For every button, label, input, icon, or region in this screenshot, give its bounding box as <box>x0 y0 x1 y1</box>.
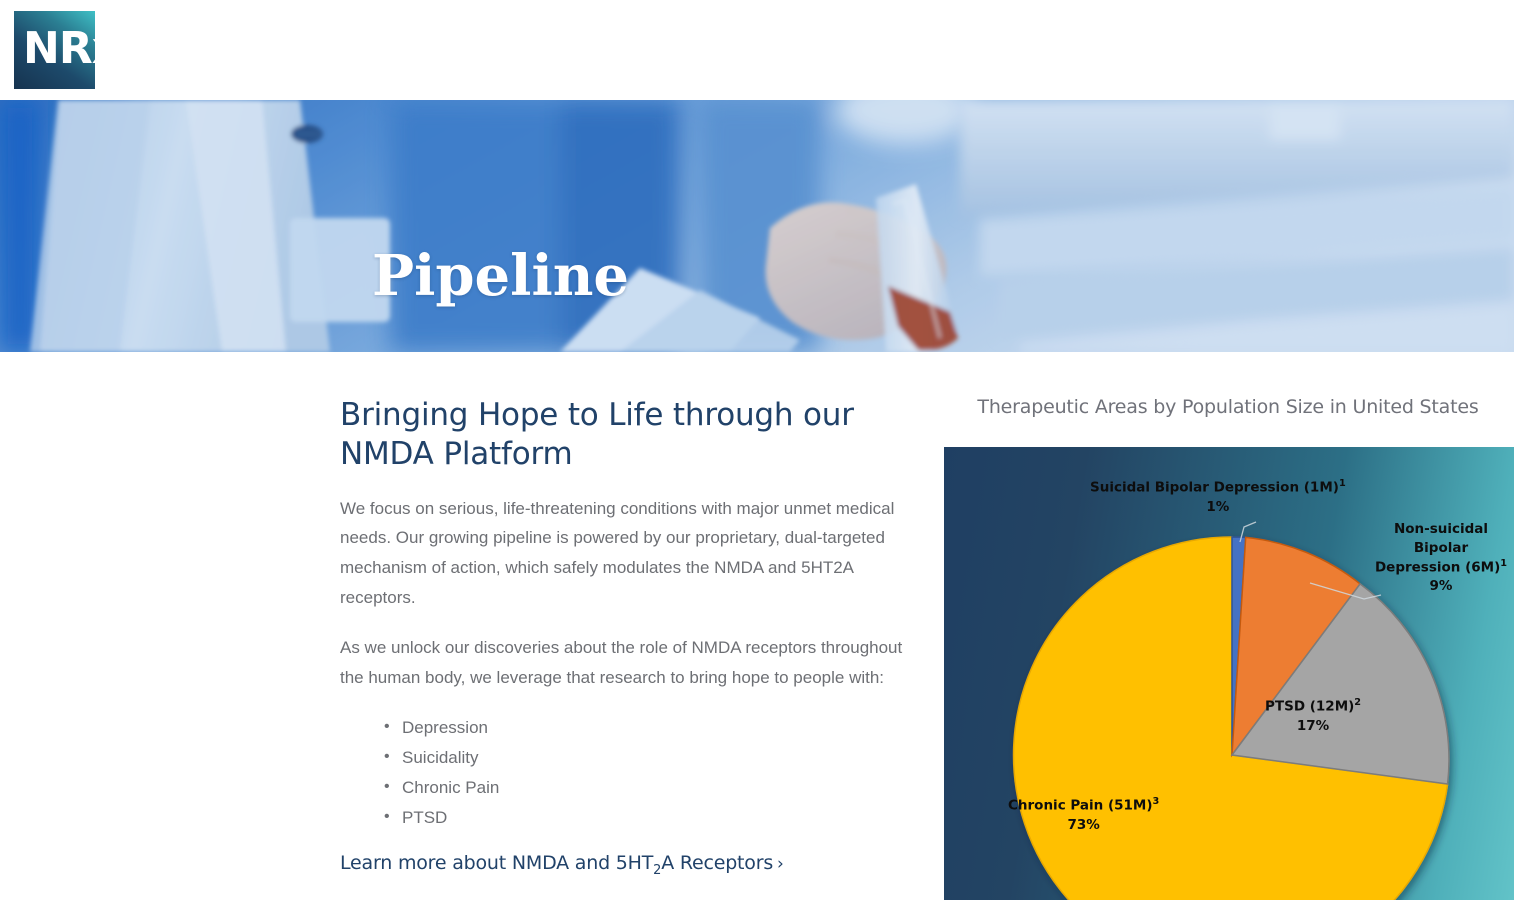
pipeline-intro-section: Bringing Hope to Life through our NMDA P… <box>340 396 920 877</box>
pie-label-footnote: 3 <box>1153 796 1160 807</box>
nrx-logo-text: NRx <box>23 27 119 71</box>
pie-label-percent: 17% <box>1265 717 1361 736</box>
pie-label-footnote: 1 <box>1339 478 1346 489</box>
list-item: Depression <box>402 713 920 743</box>
pie-label-percent: 1% <box>1090 498 1346 517</box>
pie-label-percent: 73% <box>1008 816 1159 835</box>
pie-label-text: Suicidal Bipolar Depression (1M) <box>1090 480 1339 496</box>
hero-title: Pipeline <box>372 248 629 304</box>
list-item: Suicidality <box>402 743 920 773</box>
hero-banner: Pipeline <box>0 100 1514 352</box>
therapeutic-areas-chart: Therapeutic Areas by Population Size in … <box>944 396 1514 418</box>
learn-more-subscript: 2 <box>653 862 661 877</box>
list-item: Chronic Pain <box>402 773 920 803</box>
pie-chart-panel: Suicidal Bipolar Depression (1M)1 1% Non… <box>944 447 1514 900</box>
pie-label-chronic-pain: Chronic Pain (51M)3 73% <box>1008 795 1159 835</box>
chart-title: Therapeutic Areas by Population Size in … <box>942 396 1514 418</box>
intro-paragraph-2: As we unlock our discoveries about the r… <box>340 633 920 693</box>
page-title: Bringing Hope to Life through our NMDA P… <box>340 396 920 474</box>
pie-label-ptsd: PTSD (12M)2 17% <box>1265 696 1361 736</box>
list-item: PTSD <box>402 803 920 833</box>
hero-background-image <box>0 100 1514 352</box>
conditions-list: Depression Suicidality Chronic Pain PTSD <box>340 713 920 833</box>
pie-label-text: PTSD (12M) <box>1265 699 1354 715</box>
learn-more-prefix: Learn more about NMDA and 5HT <box>340 852 653 874</box>
pie-label-percent: 9% <box>1368 577 1514 596</box>
pie-label-text: Chronic Pain (51M) <box>1008 798 1153 814</box>
pie-label-footnote: 2 <box>1354 697 1361 708</box>
pie-label-suicidal-bipolar: Suicidal Bipolar Depression (1M)1 1% <box>1090 477 1346 517</box>
site-header: NRx <box>0 0 1514 100</box>
learn-more-suffix: A Receptors <box>661 852 773 874</box>
pie-label-text: Depression (6M) <box>1375 560 1500 576</box>
intro-paragraph-1: We focus on serious, life-threatening co… <box>340 494 920 614</box>
nrx-logo[interactable]: NRx <box>14 11 95 89</box>
pie-label-nonsuicidal-bipolar: Non-suicidal Bipolar Depression (6M)1 9% <box>1368 520 1514 596</box>
learn-more-link[interactable]: Learn more about NMDA and 5HT2A Receptor… <box>340 852 784 878</box>
chevron-right-icon: › <box>777 854 784 874</box>
pie-label-footnote: 1 <box>1500 558 1507 569</box>
pie-label-text: Non-suicidal Bipolar <box>1368 520 1514 557</box>
